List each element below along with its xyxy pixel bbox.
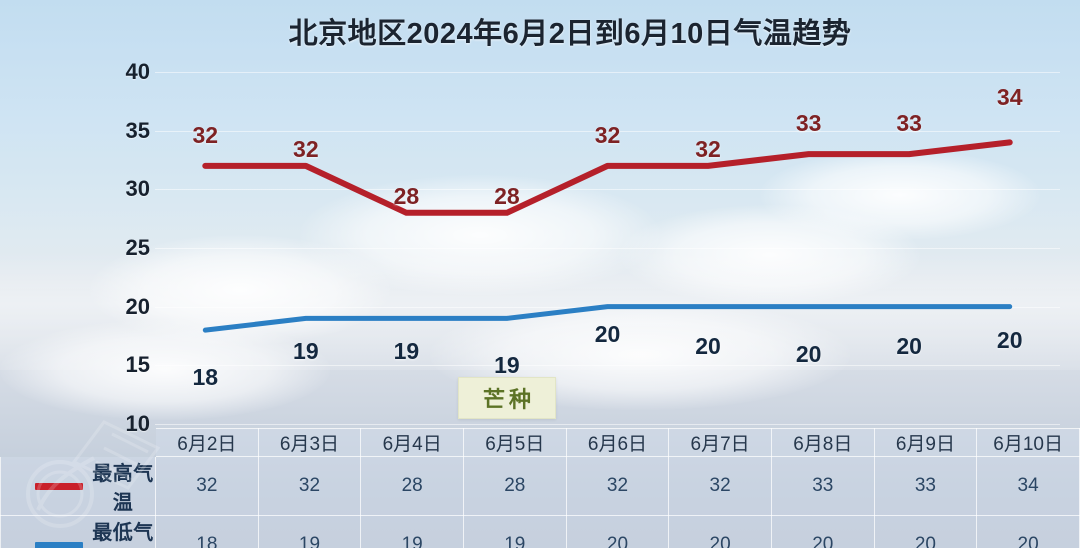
legend-item-high: 最高气温 [1, 457, 156, 516]
table-cell-high: 34 [977, 457, 1080, 516]
table-cell-low: 20 [669, 516, 772, 548]
low-temp-point-label: 20 [997, 327, 1023, 354]
low-temp-point-label: 19 [494, 352, 520, 379]
table-cell-low: 19 [361, 516, 464, 548]
high-temp-point-label: 32 [595, 122, 621, 149]
page-title: 北京地区2024年6月2日到6月10日气温趋势 [0, 10, 1080, 52]
legend-label-low: 最低气温 [91, 516, 155, 548]
weather-chart-screenshot: 北京地区2024年6月2日到6月10日气温趋势 40 35 30 25 20 1… [0, 0, 1080, 548]
table-col-header: 6月7日 [669, 429, 772, 457]
gridline [155, 424, 1060, 425]
table-cell-low: 19 [463, 516, 566, 548]
table-col-header: 6月5日 [463, 429, 566, 457]
table-col-header: 6月3日 [258, 429, 361, 457]
data-table: 6月2日6月3日6月4日6月5日6月6日6月7日6月8日6月9日6月10日 最高… [0, 428, 1080, 510]
high-temp-point-label: 33 [896, 110, 922, 137]
low-temp-point-label: 20 [595, 321, 621, 348]
table-cell-low: 20 [874, 516, 977, 548]
table-row-high: 最高气温 323228283232333334 [1, 457, 1080, 516]
solar-term-badge: 芒种 [458, 377, 556, 419]
legend-item-low: 最低气温 [1, 516, 156, 548]
table-cell-high: 28 [463, 457, 566, 516]
y-tick-label: 35 [106, 118, 150, 144]
table-row-low: 最低气温 181919192020202020 [1, 516, 1080, 548]
table-col-header: 6月6日 [566, 429, 669, 457]
table-cell-high: 33 [874, 457, 977, 516]
table-cell-high: 32 [258, 457, 361, 516]
y-tick-label: 15 [106, 352, 150, 378]
high-temp-line [205, 142, 1009, 212]
table-cell-low: 19 [258, 516, 361, 548]
low-temp-point-label: 19 [394, 338, 420, 365]
table-cell-low: 20 [771, 516, 874, 548]
table-cell-high: 28 [361, 457, 464, 516]
y-axis: 40 35 30 25 20 15 10 [100, 72, 150, 424]
high-temp-point-label: 34 [997, 84, 1023, 111]
high-temp-point-label: 28 [394, 183, 420, 210]
high-temp-point-label: 32 [293, 136, 319, 163]
table-corner-cell [1, 429, 156, 457]
table-col-header: 6月10日 [977, 429, 1080, 457]
legend-label-high: 最高气温 [91, 457, 155, 515]
y-tick-label: 30 [106, 176, 150, 202]
table-col-header: 6月8日 [771, 429, 874, 457]
y-tick-label: 25 [106, 235, 150, 261]
line-swatch-icon [35, 483, 83, 490]
low-temp-point-label: 20 [896, 333, 922, 360]
y-tick-label: 20 [106, 294, 150, 320]
low-temp-point-label: 20 [796, 341, 822, 368]
low-temp-point-label: 19 [293, 338, 319, 365]
table-cell-low: 20 [977, 516, 1080, 548]
high-temp-point-label: 32 [192, 122, 218, 149]
high-temp-point-label: 32 [695, 136, 721, 163]
table-row-header: 6月2日6月3日6月4日6月5日6月6日6月7日6月8日6月9日6月10日 [1, 429, 1080, 457]
table-col-header: 6月9日 [874, 429, 977, 457]
table-cell-low: 20 [566, 516, 669, 548]
high-temp-point-label: 28 [494, 183, 520, 210]
low-temp-point-label: 18 [192, 364, 218, 391]
low-temp-point-label: 20 [695, 333, 721, 360]
table-cell-high: 32 [669, 457, 772, 516]
table-col-header: 6月2日 [156, 429, 259, 457]
table-cell-high: 32 [156, 457, 259, 516]
table-col-header: 6月4日 [361, 429, 464, 457]
line-swatch-icon [35, 542, 83, 548]
y-tick-label: 40 [106, 59, 150, 85]
plot-area: 323228283232333334 181919192020202020 [155, 72, 1060, 424]
table-cell-low: 18 [156, 516, 259, 548]
table-cell-high: 33 [771, 457, 874, 516]
table-cell-high: 32 [566, 457, 669, 516]
high-temp-point-label: 33 [796, 110, 822, 137]
